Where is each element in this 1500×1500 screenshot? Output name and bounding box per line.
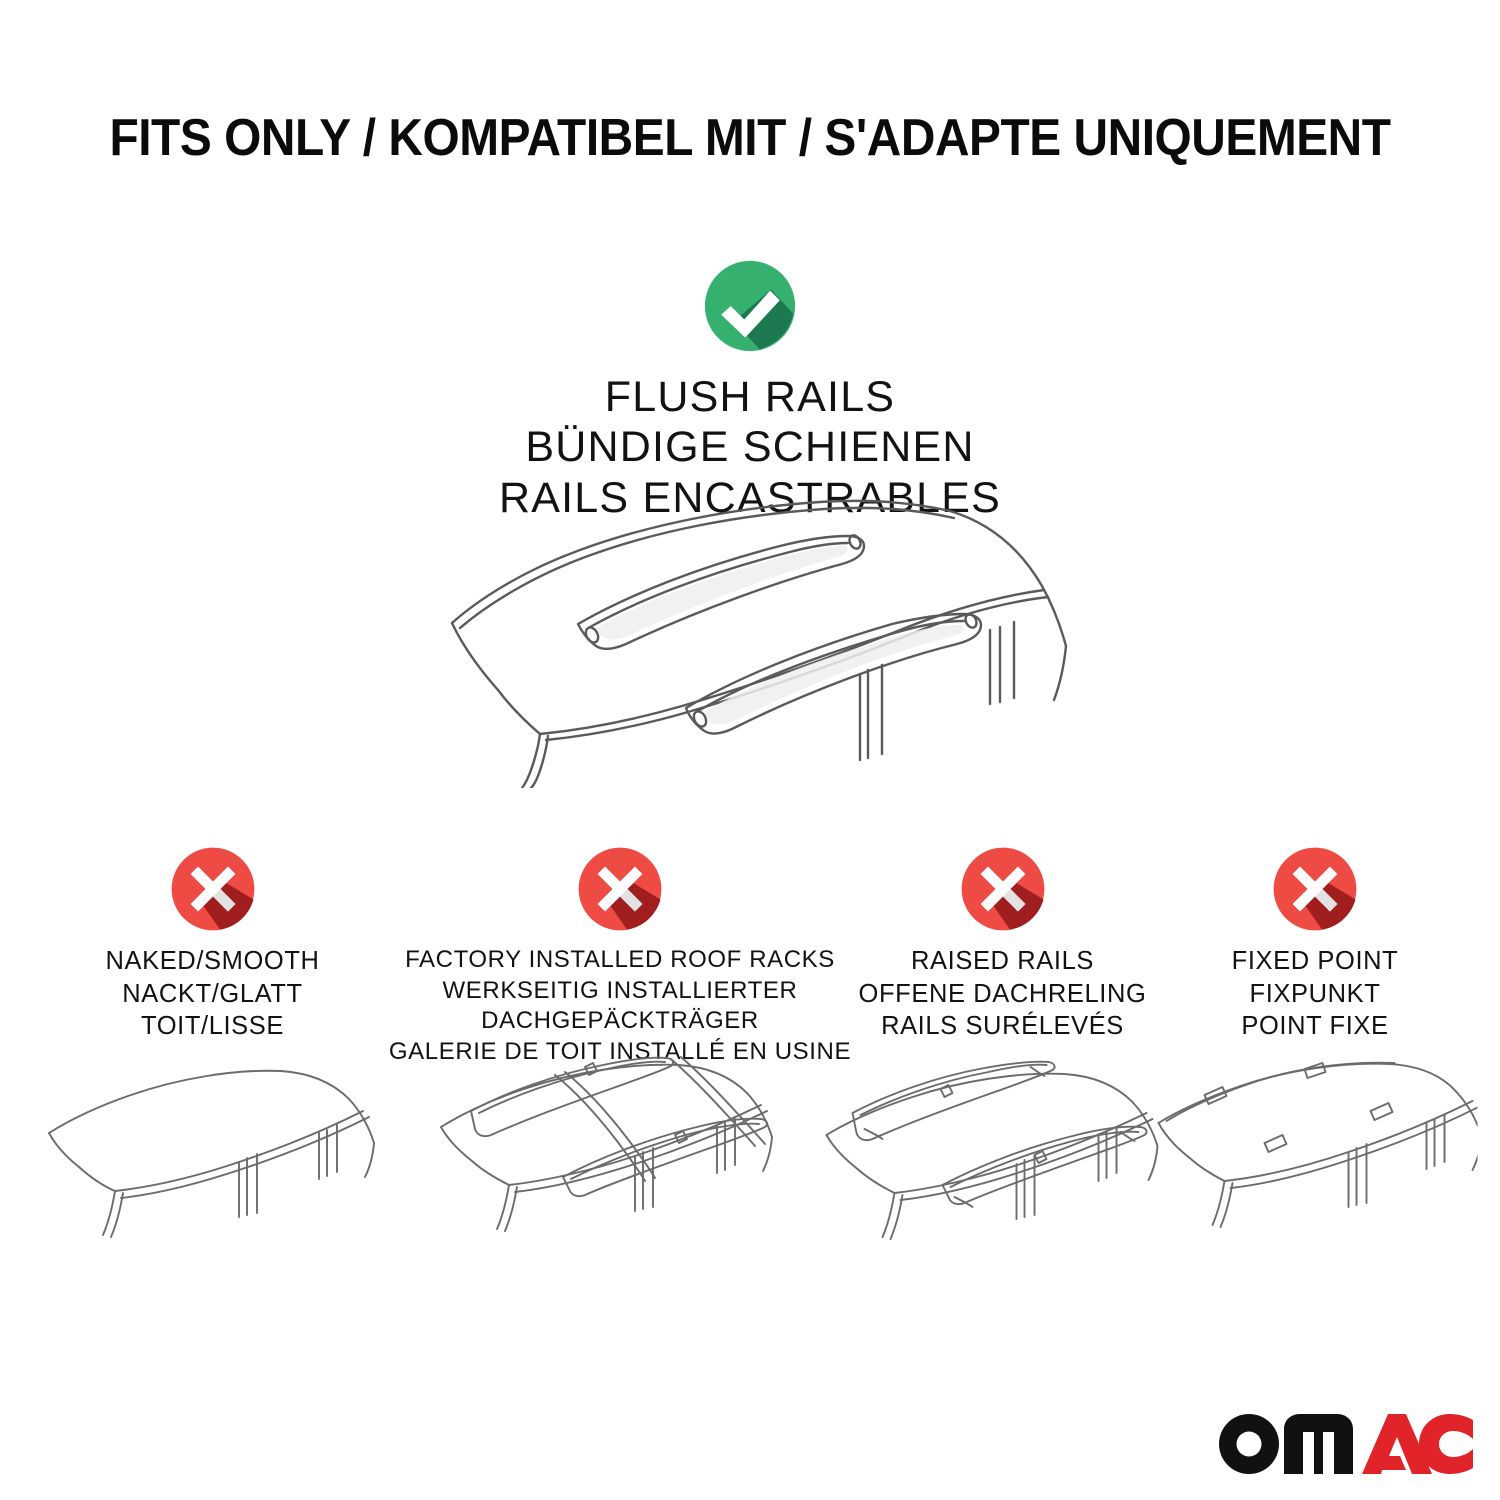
car-roof-flush-rails-illustration bbox=[430, 478, 1070, 788]
compatible-label-en: FLUSH RAILS bbox=[0, 372, 1500, 422]
label-0-en: NAKED/SMOOTH bbox=[40, 945, 385, 978]
incompatible-labels-2: RAISED RAILS OFFENE DACHRELING RAILS SUR… bbox=[840, 945, 1165, 1043]
fitment-infographic: FITS ONLY / KOMPATIBEL MIT / S'ADAPTE UN… bbox=[0, 0, 1500, 1500]
omac-logo-mark bbox=[1216, 1396, 1476, 1482]
incompatible-item-factory-racks: FACTORY INSTALLED ROOF RACKS WERKSEITIG … bbox=[385, 845, 855, 1068]
car-roof-factory-racks-illustration bbox=[435, 1045, 805, 1257]
label-2-fr: RAILS SURÉLEVÉS bbox=[840, 1010, 1165, 1043]
label-2-en: RAISED RAILS bbox=[840, 945, 1165, 978]
cross-circle-icon bbox=[169, 845, 257, 933]
car-roof-naked-illustration bbox=[43, 1057, 383, 1257]
label-1-en: FACTORY INSTALLED ROOF RACKS bbox=[385, 945, 855, 976]
label-2-de: OFFENE DACHRELING bbox=[840, 978, 1165, 1011]
check-circle-icon bbox=[702, 258, 798, 354]
label-3-fr: POINT FIXE bbox=[1165, 1010, 1465, 1043]
compatible-section: FLUSH RAILS BÜNDIGE SCHIENEN RAILS ENCAS… bbox=[0, 258, 1500, 523]
cross-circle-icon bbox=[1271, 845, 1359, 933]
incompatible-item-naked-smooth: NAKED/SMOOTH NACKT/GLATT TOIT/LISSE bbox=[40, 845, 385, 1043]
incompatible-section: NAKED/SMOOTH NACKT/GLATT TOIT/LISSE bbox=[0, 845, 1500, 1305]
incompatible-labels-0: NAKED/SMOOTH NACKT/GLATT TOIT/LISSE bbox=[40, 945, 385, 1043]
label-3-de: FIXPUNKT bbox=[1165, 978, 1465, 1011]
incompatible-item-fixed-point: FIXED POINT FIXPUNKT POINT FIXE bbox=[1165, 845, 1465, 1043]
label-3-en: FIXED POINT bbox=[1165, 945, 1465, 978]
omac-logo bbox=[1216, 1396, 1476, 1482]
page-title: FITS ONLY / KOMPATIBEL MIT / S'ADAPTE UN… bbox=[60, 108, 1440, 168]
incompatible-item-raised-rails: RAISED RAILS OFFENE DACHRELING RAILS SUR… bbox=[840, 845, 1165, 1043]
label-1-de-2: DACHGEPÄCKTRÄGER bbox=[385, 1006, 855, 1037]
incompatible-labels-3: FIXED POINT FIXPUNKT POINT FIXE bbox=[1165, 945, 1465, 1043]
compatible-label-de: BÜNDIGE SCHIENEN bbox=[0, 422, 1500, 472]
car-roof-raised-rails-illustration bbox=[820, 1057, 1185, 1257]
cross-circle-icon bbox=[576, 845, 664, 933]
cross-circle-icon bbox=[959, 845, 1047, 933]
label-0-de: NACKT/GLATT bbox=[40, 978, 385, 1011]
label-1-de-1: WERKSEITIG INSTALLIERTER bbox=[385, 976, 855, 1007]
car-roof-fixed-point-illustration bbox=[1153, 1057, 1478, 1257]
label-0-fr: TOIT/LISSE bbox=[40, 1010, 385, 1043]
